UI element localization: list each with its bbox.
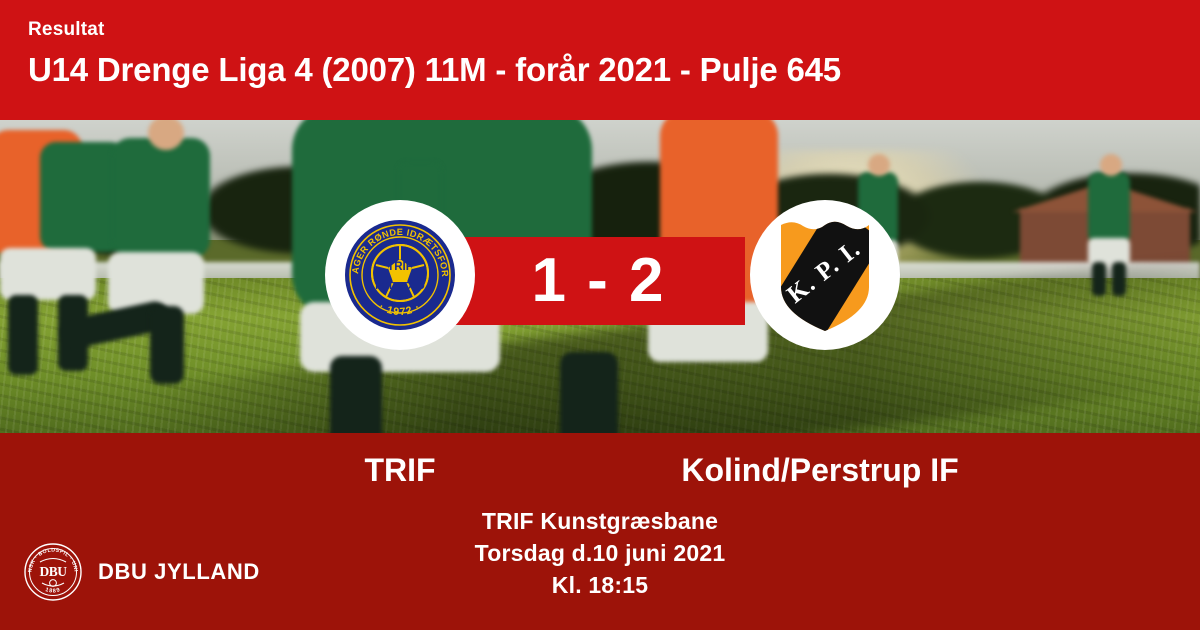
score-band: 1 - 2 [452,237,745,325]
photo-player-green-far-right [1088,172,1130,244]
photo-player-green-running [112,138,210,258]
dbu-org-name: DBU JYLLAND [98,559,260,585]
photo-legs-far-right [1092,262,1106,296]
photo-socks-center-2 [560,352,618,433]
home-team-name: TRIF [240,449,560,491]
photo-legs-left [8,295,38,375]
photo-socks-center [330,356,382,433]
home-team-logo: THORSAGER RØNDE IDRÆTSFORENING · 1972 · … [325,200,475,350]
match-venue: TRIF Kunstgræsbane [0,505,1200,537]
team-names-row: TRIF Kolind/Perstrup IF [0,449,1200,491]
photo-head-far-right [1100,154,1122,176]
score-value: 1 - 2 [531,250,665,312]
photo-head-right [868,154,890,176]
svg-text:TRIF: TRIF [387,261,413,273]
kpi-shield: K. P. I. [773,217,877,333]
trif-crest: THORSAGER RØNDE IDRÆTSFORENING · 1972 · … [344,219,456,331]
away-team-name: Kolind/Perstrup IF [660,449,980,491]
away-team-logo: K. P. I. [750,200,900,350]
dbu-emblem-icon: DANSK · BOLDSPIL · UNION 1889 DBU [24,543,82,601]
header-kicker: Resultat [28,18,1200,42]
page-title: U14 Drenge Liga 4 (2007) 11M - forår 202… [28,48,1200,92]
dbu-footer: DANSK · BOLDSPIL · UNION 1889 DBU DBU JY… [24,543,260,601]
result-card: Resultat U14 Drenge Liga 4 (2007) 11M - … [0,0,1200,630]
svg-text:DBU: DBU [39,564,67,579]
photo-shorts-left [0,248,96,300]
svg-text:1889: 1889 [44,587,61,595]
photo-legs-running-2 [150,306,184,384]
photo-legs-far-right-2 [1112,262,1126,296]
svg-text:FODBOLD: FODBOLD [375,281,424,292]
match-details-section: TRIF Kolind/Perstrup IF TRIF Kunstgræsba… [0,433,1200,630]
header-banner: Resultat U14 Drenge Liga 4 (2007) 11M - … [0,0,1200,120]
